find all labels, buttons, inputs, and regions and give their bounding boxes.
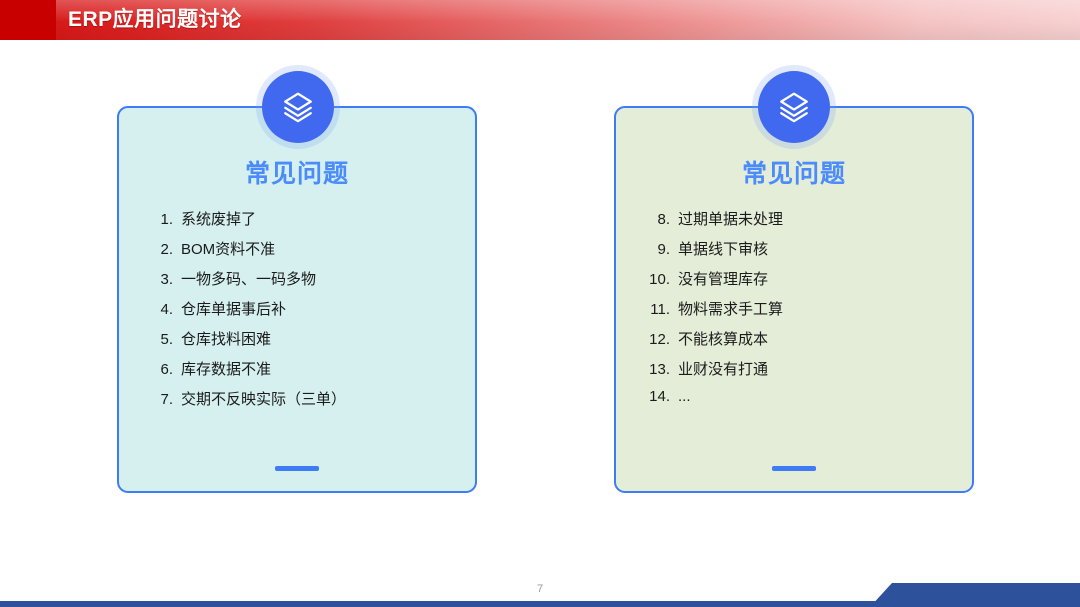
list-item-text: 物料需求手工算: [678, 298, 972, 319]
list-item-number: 4.: [119, 301, 181, 318]
list-item-text: ...: [678, 388, 972, 405]
list-item: 8.过期单据未处理: [616, 208, 972, 238]
list-item-text: 业财没有打通: [678, 358, 972, 379]
card-left-title: 常见问题: [119, 154, 475, 190]
list-item-number: 11.: [616, 301, 678, 318]
list-item: 2.BOM资料不准: [119, 238, 475, 268]
list-item-number: 12.: [616, 331, 678, 348]
card-left-accent-dash: [275, 466, 319, 471]
list-item-text: BOM资料不准: [181, 238, 475, 259]
list-item-number: 10.: [616, 271, 678, 288]
layers-icon: [777, 90, 811, 124]
list-item: 1.系统废掉了: [119, 208, 475, 238]
list-item: 3.一物多码、一码多物: [119, 268, 475, 298]
card-right-accent-dash: [772, 466, 816, 471]
card-right-title: 常见问题: [616, 154, 972, 190]
layers-icon: [281, 90, 315, 124]
list-item-text: 库存数据不准: [181, 358, 475, 379]
list-item-number: 5.: [119, 331, 181, 348]
list-item: 11.物料需求手工算: [616, 298, 972, 328]
layers-icon-badge-right: [758, 71, 830, 143]
header-left-block: [0, 0, 56, 40]
list-item-text: 过期单据未处理: [678, 208, 972, 229]
list-item: 14....: [616, 388, 972, 418]
footer-corner-wedge: [870, 583, 1080, 607]
list-item-number: 2.: [119, 241, 181, 258]
list-item-text: 系统废掉了: [181, 208, 475, 229]
problem-card-right: 常见问题 8.过期单据未处理9.单据线下审核10.没有管理库存11.物料需求手工…: [614, 106, 974, 493]
layers-icon-badge-left: [262, 71, 334, 143]
problem-card-left: 常见问题 1.系统废掉了2.BOM资料不准3.一物多码、一码多物4.仓库单据事后…: [117, 106, 477, 493]
list-item-text: 仓库找料困难: [181, 328, 475, 349]
list-item-text: 单据线下审核: [678, 238, 972, 259]
list-item-text: 一物多码、一码多物: [181, 268, 475, 289]
card-right-list: 8.过期单据未处理9.单据线下审核10.没有管理库存11.物料需求手工算12.不…: [616, 208, 972, 418]
list-item-number: 3.: [119, 271, 181, 288]
slide-header: ERP应用问题讨论: [0, 0, 1080, 40]
list-item-number: 1.: [119, 211, 181, 228]
list-item-number: 7.: [119, 391, 181, 408]
list-item-number: 9.: [616, 241, 678, 258]
list-item-number: 6.: [119, 361, 181, 378]
page-title: ERP应用问题讨论: [68, 0, 242, 40]
list-item: 5.仓库找料困难: [119, 328, 475, 358]
list-item: 12.不能核算成本: [616, 328, 972, 358]
card-left-list: 1.系统废掉了2.BOM资料不准3.一物多码、一码多物4.仓库单据事后补5.仓库…: [119, 208, 475, 418]
list-item-text: 交期不反映实际（三单）: [181, 388, 475, 409]
list-item-text: 不能核算成本: [678, 328, 972, 349]
list-item-number: 14.: [616, 388, 678, 405]
list-item-number: 8.: [616, 211, 678, 228]
list-item: 13.业财没有打通: [616, 358, 972, 388]
list-item-number: 13.: [616, 361, 678, 378]
list-item-text: 仓库单据事后补: [181, 298, 475, 319]
list-item: 9.单据线下审核: [616, 238, 972, 268]
list-item: 7.交期不反映实际（三单）: [119, 388, 475, 418]
list-item: 4.仓库单据事后补: [119, 298, 475, 328]
list-item: 6.库存数据不准: [119, 358, 475, 388]
list-item-text: 没有管理库存: [678, 268, 972, 289]
list-item: 10.没有管理库存: [616, 268, 972, 298]
